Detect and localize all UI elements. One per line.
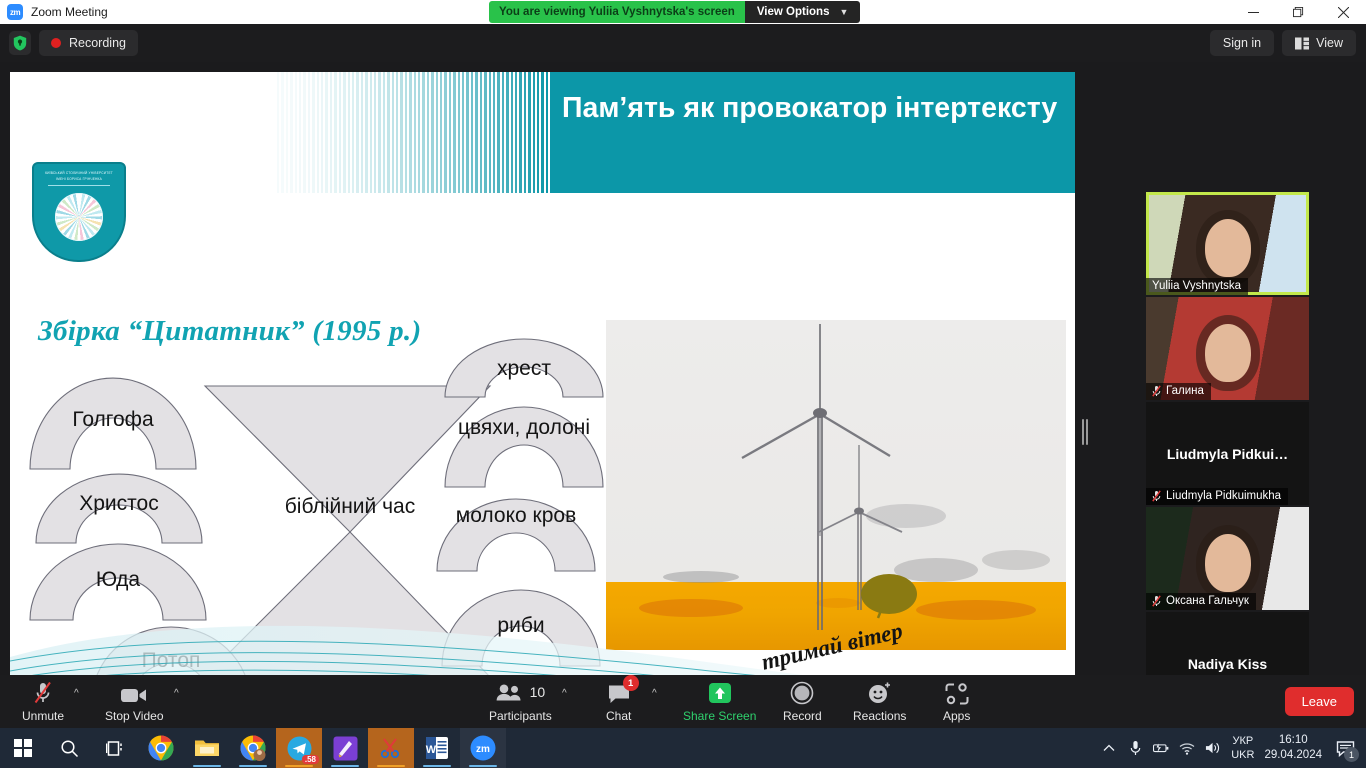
arch-label: молоко кров xyxy=(435,504,597,528)
apps-icon xyxy=(945,679,969,705)
chrome-icon xyxy=(148,735,174,761)
participant-thumbnail-strip[interactable]: Yuliia VyshnytskaГалинаLiudmyla Pidkui…L… xyxy=(1146,192,1309,757)
search-icon xyxy=(60,739,79,758)
word-icon: W xyxy=(425,736,449,760)
record-icon xyxy=(790,679,814,705)
file-explorer-button[interactable] xyxy=(184,728,230,768)
language-top: УКР xyxy=(1231,734,1254,748)
participant-tile[interactable]: Галина xyxy=(1146,297,1309,400)
arch-label: Юда xyxy=(28,568,208,592)
participant-video xyxy=(1205,219,1251,277)
minimize-button[interactable] xyxy=(1231,0,1276,24)
window-title-bar: zm Zoom Meeting You are viewing Yuliia V… xyxy=(0,0,1366,24)
paint-app-button[interactable] xyxy=(322,728,368,768)
clock-date: 29.04.2024 xyxy=(1264,748,1322,763)
battery-icon[interactable] xyxy=(1153,740,1169,756)
logo-divider xyxy=(48,185,110,186)
window-controls xyxy=(1231,0,1366,24)
logo-text-line2: ІМЕНІ БОРИСА ГРІНЧЕНКА xyxy=(38,177,120,182)
recording-label: Recording xyxy=(69,36,126,50)
participant-name: Liudmyla Pidkuimukha xyxy=(1166,490,1281,502)
start-button[interactable] xyxy=(0,728,46,768)
microphone-muted-icon xyxy=(1152,595,1161,607)
arch-tsviakhy-doloni: цвяхи, долоні xyxy=(443,403,605,489)
unmute-label: Unmute xyxy=(22,709,64,723)
shared-screen-slide[interactable]: Пам’ять як провокатор інтертексту КИЇВСЬ… xyxy=(10,72,1075,735)
people-icon: 10 xyxy=(496,679,546,705)
notifications-button[interactable]: 1 xyxy=(1332,735,1358,761)
meeting-toolbar: Unmute ^ Stop Video ^ 10 Participants ^ xyxy=(0,675,1366,728)
participant-nameplate: Галина xyxy=(1146,383,1211,400)
svg-text:zm: zm xyxy=(476,744,490,755)
maximize-button[interactable] xyxy=(1276,0,1321,24)
windows-icon xyxy=(14,739,32,757)
participant-name: Yuliia Vyshnytska xyxy=(1152,280,1241,292)
apps-label: Apps xyxy=(943,709,970,723)
active-indicator xyxy=(193,765,221,768)
scissors-icon xyxy=(379,736,403,760)
language-indicator[interactable]: УКР UKR xyxy=(1231,734,1254,763)
active-indicator xyxy=(239,765,267,768)
video-options-caret[interactable]: ^ xyxy=(174,688,179,699)
view-label: View xyxy=(1316,36,1343,50)
language-bottom: UKR xyxy=(1231,748,1254,762)
view-button[interactable]: View xyxy=(1282,30,1356,56)
sign-in-button[interactable]: Sign in xyxy=(1210,30,1274,56)
reactions-label: Reactions xyxy=(853,709,906,723)
reactions-icon xyxy=(867,679,892,705)
snipping-tool-button[interactable] xyxy=(368,728,414,768)
participant-name: Галина xyxy=(1166,385,1204,397)
stop-video-label: Stop Video xyxy=(105,709,164,723)
participants-button[interactable]: 10 Participants xyxy=(489,679,552,723)
active-indicator xyxy=(469,765,497,768)
slide-title-band: Пам’ять як провокатор інтертексту xyxy=(550,72,1075,193)
arch-label: цвяхи, долоні xyxy=(443,416,605,440)
chrome-window-button[interactable] xyxy=(230,728,276,768)
wind-turbines-image xyxy=(606,320,1066,650)
reactions-button[interactable]: Reactions xyxy=(853,679,906,723)
windows-taskbar: .58 W zm xyxy=(0,728,1366,768)
slide-subtitle: Збірка “Цитатник” (1995 р.) xyxy=(38,315,421,348)
arch-moloko-krov: молоко кров xyxy=(435,497,597,573)
camera-icon xyxy=(120,679,148,705)
close-button[interactable] xyxy=(1321,0,1366,24)
chat-label: Chat xyxy=(606,709,631,723)
arch-label: хрест xyxy=(443,357,605,381)
chat-button[interactable]: 1 Chat xyxy=(606,679,631,723)
clock[interactable]: 16:10 29.04.2024 xyxy=(1264,733,1322,763)
leave-button[interactable]: Leave xyxy=(1285,687,1354,716)
participants-caret[interactable]: ^ xyxy=(562,688,567,699)
volume-icon[interactable] xyxy=(1205,740,1221,756)
leave-label: Leave xyxy=(1302,694,1337,709)
meeting-stage: Пам’ять як провокатор інтертексту КИЇВСЬ… xyxy=(0,62,1366,675)
paint-icon xyxy=(333,736,358,761)
unmute-button[interactable]: Unmute xyxy=(22,679,64,723)
folder-icon xyxy=(194,737,220,759)
arch-yuda: Юда xyxy=(28,542,208,622)
screen-share-banner: You are viewing Yuliia Vyshnytska's scre… xyxy=(489,1,860,23)
zoom-button[interactable]: zm xyxy=(460,728,506,768)
zoom-icon: zm xyxy=(470,735,496,761)
participant-tile[interactable]: Yuliia Vyshnytska xyxy=(1146,192,1309,295)
layout-icon xyxy=(1295,37,1309,50)
share-screen-label: Share Screen xyxy=(683,709,756,723)
record-button[interactable]: Record xyxy=(783,679,822,723)
chevron-up-icon[interactable] xyxy=(1101,740,1117,756)
sign-in-label: Sign in xyxy=(1223,36,1261,50)
participant-video xyxy=(1205,324,1251,382)
task-view-icon xyxy=(106,740,125,757)
notification-count: 1 xyxy=(1344,747,1359,762)
participant-tile[interactable]: Liudmyla Pidkui…Liudmyla Pidkuimukha xyxy=(1146,402,1309,505)
arch-hrystos: Христос xyxy=(34,472,204,545)
record-dot-icon xyxy=(51,38,61,48)
microphone-icon[interactable] xyxy=(1127,740,1143,756)
participant-name: Оксана Гальчук xyxy=(1166,595,1249,607)
participants-label: Participants xyxy=(489,709,552,723)
active-indicator xyxy=(377,765,405,768)
apps-button[interactable]: Apps xyxy=(943,679,970,723)
participant-nameplate: Оксана Гальчук xyxy=(1146,593,1256,610)
active-indicator xyxy=(331,765,359,768)
participant-video xyxy=(1205,534,1251,592)
decorative-stripes xyxy=(277,72,550,193)
chrome-profile-icon xyxy=(240,735,266,761)
recording-indicator[interactable]: Recording xyxy=(39,30,138,56)
participants-count: 10 xyxy=(530,684,546,700)
chat-unread-badge: 1 xyxy=(623,675,639,691)
arch-label: Христос xyxy=(34,492,204,516)
participant-tile[interactable]: Оксана Гальчук xyxy=(1146,507,1309,610)
zoom-app-icon: zm xyxy=(7,4,23,20)
share-banner-label: You are viewing Yuliia Vyshnytska's scre… xyxy=(489,1,745,23)
microphone-muted-icon xyxy=(32,679,54,705)
arch-label: Голгофа xyxy=(28,408,198,432)
arch-golgofa: Голгофа xyxy=(28,374,198,471)
chrome-button[interactable] xyxy=(138,728,184,768)
participant-nameplate: Liudmyla Pidkuimukha xyxy=(1146,488,1288,505)
shield-icon[interactable] xyxy=(9,31,31,55)
chat-icon: 1 xyxy=(607,679,631,705)
top-bar-right-group: Sign in View xyxy=(1210,30,1356,56)
view-options-button[interactable]: View Options ▼ xyxy=(745,1,861,23)
logo-text-line1: КИЇВСЬКИЙ СТОЛИЧНИЙ УНІВЕРСИТЕТ xyxy=(38,171,120,176)
word-button[interactable]: W xyxy=(414,728,460,768)
search-button[interactable] xyxy=(46,728,92,768)
task-view-button[interactable] xyxy=(92,728,138,768)
record-label: Record xyxy=(783,709,822,723)
chat-caret[interactable]: ^ xyxy=(652,688,657,699)
arch-khrest: хрест xyxy=(443,337,605,399)
zoom-top-bar: Recording Sign in View xyxy=(0,24,1366,62)
participant-nameplate: Yuliia Vyshnytska xyxy=(1146,278,1248,295)
active-indicator xyxy=(423,765,451,768)
share-screen-icon xyxy=(707,679,733,705)
share-screen-button[interactable]: Share Screen xyxy=(683,679,756,723)
university-logo: КИЇВСЬКИЙ СТОЛИЧНИЙ УНІВЕРСИТЕТ ІМЕНІ БО… xyxy=(32,162,126,262)
svg-text:W: W xyxy=(426,744,437,756)
microphone-muted-icon xyxy=(1152,490,1161,502)
slide-title: Пам’ять як провокатор інтертексту xyxy=(562,90,1061,126)
view-options-label: View Options xyxy=(757,6,830,18)
telegram-button[interactable]: .58 xyxy=(276,728,322,768)
system-tray: УКР UKR 16:10 29.04.2024 1 xyxy=(1101,728,1366,768)
audio-options-caret[interactable]: ^ xyxy=(74,688,79,699)
clock-time: 16:10 xyxy=(1264,733,1322,748)
window-title: Zoom Meeting xyxy=(31,5,108,19)
panel-resize-handle[interactable] xyxy=(1082,419,1088,445)
microphone-muted-icon xyxy=(1152,385,1161,397)
active-indicator xyxy=(285,765,313,768)
logo-rosette-icon xyxy=(55,193,103,241)
wifi-icon[interactable] xyxy=(1179,740,1195,756)
telegram-badge: .58 xyxy=(302,755,319,764)
stop-video-button[interactable]: Stop Video xyxy=(105,679,164,723)
chevron-down-icon: ▼ xyxy=(839,7,848,17)
